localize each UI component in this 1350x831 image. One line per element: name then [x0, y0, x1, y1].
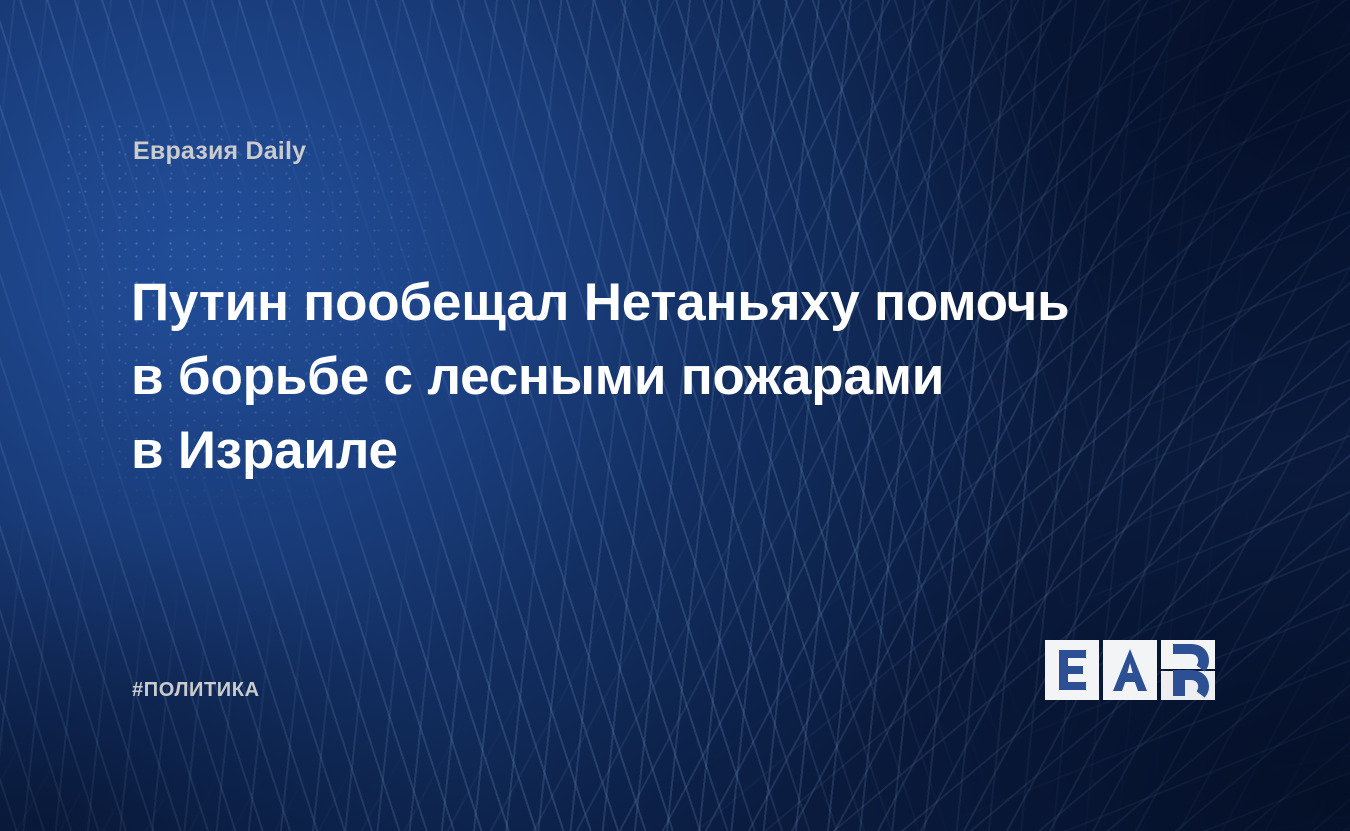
headline-line-3: в Израиле — [131, 414, 1131, 488]
headline-line-1: Путин пообещал Нетаньяху помочь — [131, 266, 1131, 340]
logo-tile-d — [1161, 640, 1215, 700]
brand-title: Евразия Daily — [133, 137, 306, 166]
ead-logo[interactable] — [1045, 640, 1215, 700]
news-card: Евразия Daily Путин пообещал Нетаньяху п… — [0, 0, 1350, 831]
logo-tile-a — [1103, 640, 1157, 700]
headline: Путин пообещал Нетаньяху помочь в борьбе… — [131, 266, 1131, 488]
category-hashtag[interactable]: #ПОЛИТИКА — [132, 679, 260, 702]
logo-tile-e — [1045, 640, 1099, 700]
headline-line-2: в борьбе с лесными пожарами — [131, 340, 1131, 414]
card-content: Евразия Daily Путин пообещал Нетаньяху п… — [0, 0, 1350, 831]
